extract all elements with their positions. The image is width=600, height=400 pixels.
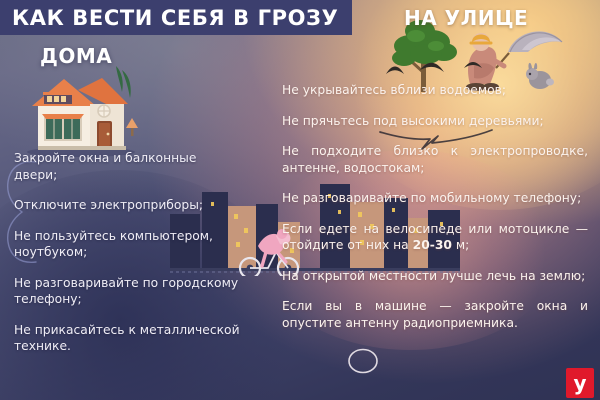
main-title-bar: КАК ВЕСТИ СЕБЯ В ГРОЗУ bbox=[0, 0, 352, 35]
list-item: Закройте окна и балконные двери; bbox=[14, 150, 242, 183]
section-heading-home: ДОМА bbox=[40, 44, 112, 68]
house-illustration bbox=[18, 66, 144, 158]
list-item: Отключите электроприборы; bbox=[14, 197, 242, 214]
street-rules-list: Не укрывайтесь вблизи водоемов; Не прячь… bbox=[282, 82, 588, 331]
list-item-car: Если вы в машине — закройте окна и опуст… bbox=[282, 298, 588, 331]
section-heading-street: НА УЛИЦЕ bbox=[404, 6, 528, 30]
list-item: Не прикасайтесь к металлической технике. bbox=[14, 322, 242, 355]
infographic-poster: КАК ВЕСТИ СЕБЯ В ГРОЗУ НА УЛИЦЕ ДОМА Зак… bbox=[0, 0, 600, 400]
list-item: Не разговаривайте по мобильному телефону… bbox=[282, 190, 588, 207]
lightning-bolt-underline-annotation bbox=[378, 127, 494, 153]
list-item: Не укрывайтесь вблизи водоемов; bbox=[282, 82, 588, 99]
bike-rule-after: м; bbox=[452, 238, 469, 252]
circled-word-annotation bbox=[346, 348, 380, 374]
list-item: Не разговаривайте по городскому телефону… bbox=[14, 275, 242, 308]
list-item-bike: Если едете на велосипеде или мотоцикле —… bbox=[282, 221, 588, 254]
home-rules-list: Закройте окна и балконные двери; Отключи… bbox=[14, 150, 242, 355]
logo-letter: у bbox=[573, 373, 586, 393]
publisher-logo-badge[interactable]: у bbox=[566, 368, 594, 398]
bike-rule-distance: 20-30 bbox=[413, 238, 452, 252]
page-title: КАК ВЕСТИ СЕБЯ В ГРОЗУ bbox=[0, 6, 338, 30]
list-item: На открытой местности лучше лечь на земл… bbox=[282, 268, 588, 285]
list-item: Не пользуйтесь компьютером, ноутбуком; bbox=[14, 228, 242, 261]
car-rule-before: Если вы bbox=[282, 299, 355, 313]
